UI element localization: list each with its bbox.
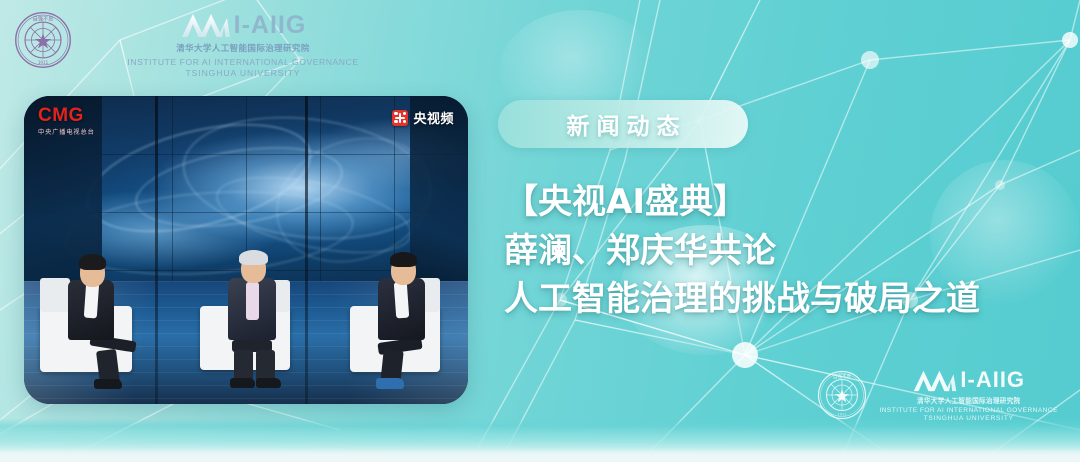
tsinghua-seal-icon: 自强不息 1911	[817, 370, 867, 420]
seated-guest-left	[38, 246, 158, 396]
header-brand-lockup: 自强不息 1911 I-AIIG	[0, 0, 620, 88]
seated-guest-middle	[194, 244, 314, 396]
cmg-logo: CMG 中央广播电视总台	[38, 106, 95, 136]
cctv-video-label: 央视频	[413, 108, 454, 127]
iaiig-wordmark-text: I-AIIG	[234, 13, 307, 38]
bottom-white-edge	[0, 448, 1080, 462]
iaiig-chinese-name: 清华大学人工智能国际治理研究院	[879, 395, 1058, 405]
iaiig-logo: I-AIIG 清华大学人工智能国际治理研究院 INSTITUTE FOR AI …	[879, 367, 1058, 422]
cctv-video-icon	[392, 110, 408, 126]
poster-canvas: 自强不息 1911 I-AIIG	[0, 0, 1080, 462]
svg-text:自强不息: 自强不息	[33, 14, 54, 22]
iaiig-logo: I-AIIG 清华大学人工智能国际治理研究院 INSTITUTE FOR AI …	[78, 10, 408, 78]
headline-line-2: 薛澜、郑庆华共论	[504, 229, 1064, 275]
svg-text:1911: 1911	[38, 60, 49, 65]
svg-text:自强不息: 自强不息	[833, 373, 851, 380]
svg-text:1911: 1911	[838, 412, 847, 416]
news-category-badge-label: 新闻动态	[560, 107, 687, 141]
iaiig-english-name-line2: TSINGHUA UNIVERSITY	[78, 68, 408, 78]
iaiig-english-name-line1: INSTITUTE FOR AI INTERNATIONAL GOVERNANC…	[78, 57, 408, 67]
iaiig-peaks-icon	[912, 369, 958, 392]
headline-block: 【央视AI盛典】 薛澜、郑庆华共论 人工智能治理的挑战与破局之道	[498, 180, 1064, 323]
iaiig-wordmark-text: I-AIIG	[960, 369, 1025, 391]
tsinghua-seal-icon: 自强不息 1911	[14, 11, 72, 69]
headline-line-3: 人工智能治理的挑战与破局之道	[504, 277, 1064, 323]
iaiig-peaks-icon	[180, 12, 232, 38]
news-category-badge[interactable]: 新闻动态	[498, 100, 748, 148]
cctv-video-watermark: 央视频	[392, 108, 454, 127]
video-thumbnail-panel[interactable]: CMG 中央广播电视总台 央视频 2025 中国·AI盛典	[24, 96, 468, 404]
cmg-logo-text: CMG	[38, 106, 95, 125]
iaiig-english-name-line1: INSTITUTE FOR AI INTERNATIONAL GOVERNANC…	[879, 407, 1058, 414]
cmg-logo-subtitle: 中央广播电视总台	[38, 127, 95, 136]
seated-guest-right	[342, 246, 462, 396]
headline-line-1: 【央视AI盛典】	[504, 180, 1064, 226]
iaiig-chinese-name: 清华大学人工智能国际治理研究院	[78, 42, 408, 54]
footer-brand-watermark: 自强不息 1911 I-AIIG 清华大学人工智能国际治理研究院 INSTITU…	[817, 367, 1058, 422]
iaiig-english-name-line2: TSINGHUA UNIVERSITY	[879, 415, 1058, 422]
content-column: 新闻动态 【央视AI盛典】 薛澜、郑庆华共论 人工智能治理的挑战与破局之道	[498, 100, 1064, 323]
